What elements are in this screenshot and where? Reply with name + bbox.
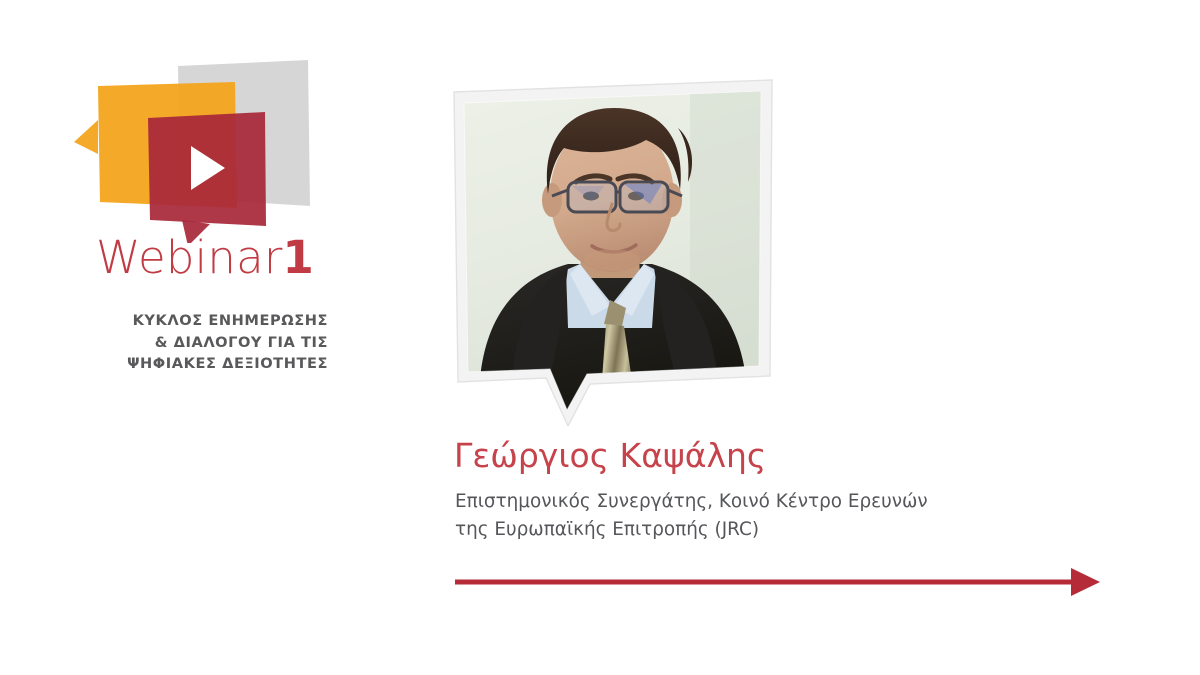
speaker-role: Επιστημονικός Συνεργάτης, Κοινό Κέντρο Ε…	[455, 488, 928, 544]
logo-tagline-line-2: & ΔΙΑΛΟΓΟΥ ΓΙΑ ΤΙΣ	[60, 332, 328, 354]
logo-wordmark: Webinar1	[60, 234, 350, 281]
speaker-role-line-2: της Ευρωπαϊκής Επιτροπής (JRC)	[455, 516, 928, 544]
arrow-rule	[455, 566, 1100, 598]
speaker-photo-svg	[440, 78, 780, 426]
arrow-head	[1071, 568, 1100, 596]
logo-tagline-line-1: ΚΥΚΛΟΣ ΕΝΗΜΕΡΩΣΗΣ	[60, 310, 328, 332]
logo-bubbles-svg	[60, 58, 350, 243]
slide-canvas: Webinar1 ΚΥΚΛΟΣ ΕΝΗΜΕΡΩΣΗΣ & ΔΙΑΛΟΓΟΥ ΓΙ…	[0, 0, 1200, 675]
logo-mark-graphic	[60, 58, 350, 243]
speaker-name: Γεώργιος Καψάλης	[454, 437, 766, 475]
logo-tagline: ΚΥΚΛΟΣ ΕΝΗΜΕΡΩΣΗΣ & ΔΙΑΛΟΓΟΥ ΓΙΑ ΤΙΣ ΨΗΦ…	[60, 310, 328, 375]
arrow-right-icon	[455, 566, 1100, 598]
logo-wordmark-number: 1	[283, 231, 315, 284]
logo-tagline-line-3: ΨΗΦΙΑΚΕΣ ΔΕΞΙΟΤΗΤΕΣ	[60, 353, 328, 375]
logo-wordmark-text: Webinar	[96, 231, 283, 284]
speaker-role-line-1: Επιστημονικός Συνεργάτης, Κοινό Κέντρο Ε…	[455, 488, 928, 516]
speaker-photo-bubble	[440, 78, 780, 426]
webinar-logo: Webinar1 ΚΥΚΛΟΣ ΕΝΗΜΕΡΩΣΗΣ & ΔΙΑΛΟΓΟΥ ΓΙ…	[60, 58, 350, 398]
